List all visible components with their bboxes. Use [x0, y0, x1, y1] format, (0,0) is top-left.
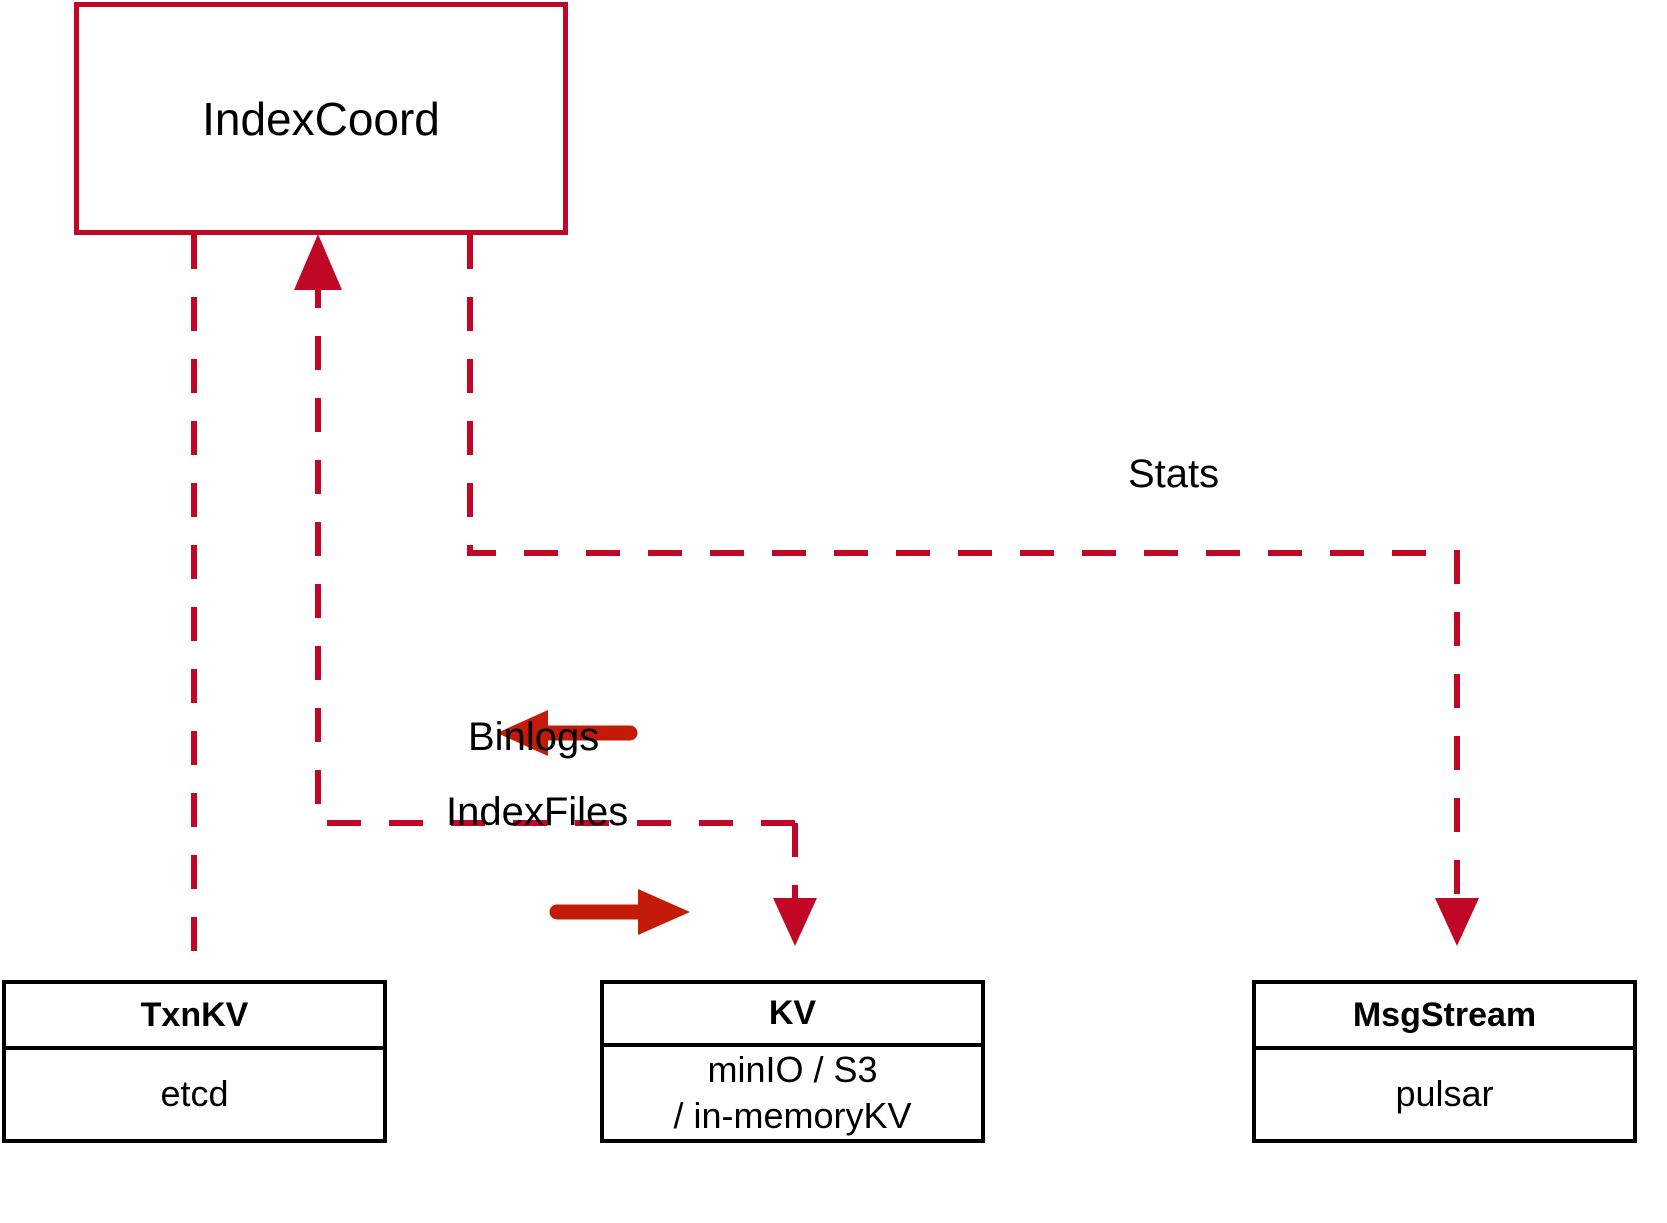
- node-txnkv-impl: etcd: [6, 1050, 383, 1139]
- edge-label-binlogs: Binlogs: [468, 715, 599, 760]
- indexfiles-arrow-icon: [557, 889, 690, 935]
- node-msgstream-impl-line: pulsar: [1395, 1071, 1493, 1117]
- node-kv-impl: minIO / S3 / in-memoryKV: [604, 1047, 981, 1139]
- node-msgstream-title: MsgStream: [1256, 984, 1633, 1050]
- edge-label-indexfiles: IndexFiles: [446, 790, 628, 835]
- node-kv[interactable]: KV minIO / S3 / in-memoryKV: [600, 980, 985, 1143]
- node-txnkv[interactable]: TxnKV etcd: [2, 980, 387, 1143]
- node-kv-impl-line: minIO / S3: [707, 1047, 877, 1093]
- diagram-canvas: IndexCoord TxnKV etcd KV minIO / S3 / in…: [0, 0, 1667, 1223]
- node-txnkv-title: TxnKV: [6, 984, 383, 1050]
- node-txnkv-impl-line: etcd: [160, 1071, 228, 1117]
- edge-label-stats: Stats: [1128, 452, 1219, 497]
- node-indexcoord[interactable]: IndexCoord: [74, 2, 568, 235]
- node-indexcoord-title: IndexCoord: [202, 92, 440, 146]
- node-msgstream-impl: pulsar: [1256, 1050, 1633, 1139]
- node-kv-title: KV: [604, 984, 981, 1047]
- arrowhead-down-msgstream: [1435, 898, 1479, 946]
- node-msgstream[interactable]: MsgStream pulsar: [1252, 980, 1637, 1143]
- arrowhead-down-kv: [773, 898, 817, 946]
- arrowhead-up-indexcoord: [294, 234, 342, 290]
- node-kv-impl-line: / in-memoryKV: [673, 1093, 911, 1139]
